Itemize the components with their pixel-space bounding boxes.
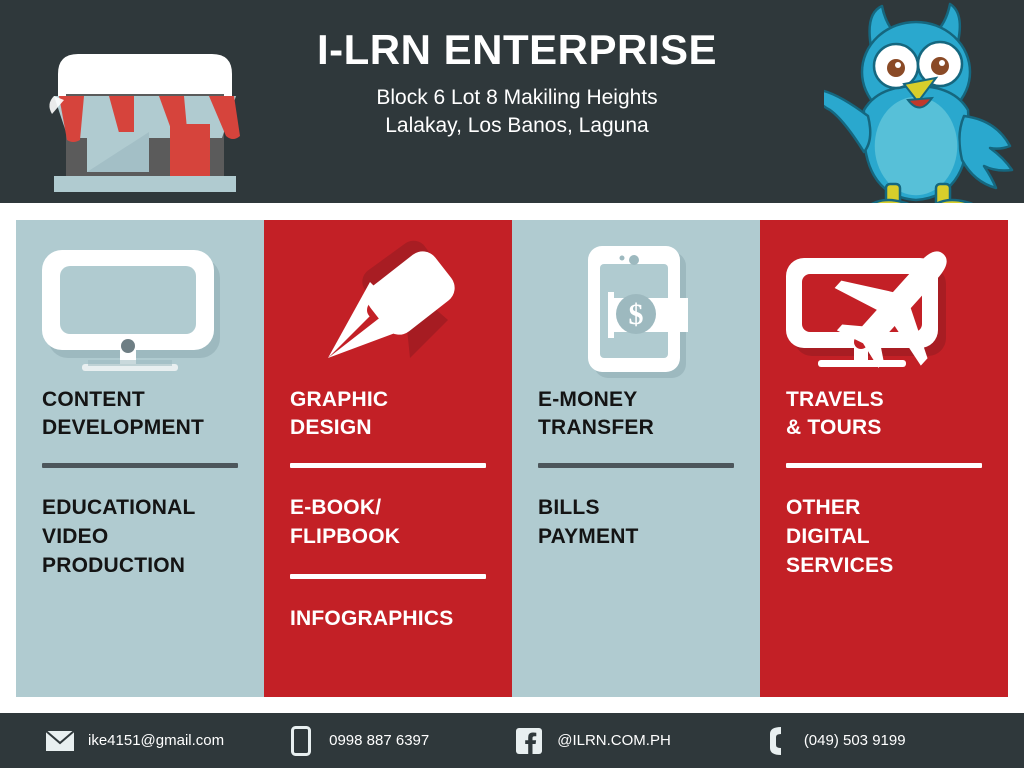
contact-facebook[interactable]: @ILRN.COM.PH	[514, 726, 671, 756]
telephone-handset-icon	[761, 726, 791, 756]
service-title: CONTENT DEVELOPMENT	[42, 386, 238, 441]
service-item-line: OTHER	[786, 496, 861, 519]
divider	[786, 463, 982, 468]
contact-email[interactable]: ike4151@gmail.com	[45, 726, 224, 756]
monitor-airplane-icon	[760, 234, 1008, 384]
service-title: GRAPHIC DESIGN	[290, 386, 486, 441]
service-item-line: INFOGRAPHICS	[290, 607, 453, 630]
service-item: OTHER DIGITAL SERVICES	[786, 494, 982, 581]
smartphone-icon	[286, 726, 316, 756]
service-title-line: TRAVELS	[786, 388, 884, 411]
panel-body: E-MONEY TRANSFER BILLS PAYMENT	[512, 386, 760, 552]
service-item: BILLS PAYMENT	[538, 494, 734, 552]
contact-landline[interactable]: (049) 503 9199	[761, 726, 906, 756]
service-panel-travels-and-tours[interactable]: TRAVELS & TOURS OTHER DIGITAL SERVICES	[760, 220, 1008, 697]
service-title-line: TRANSFER	[538, 416, 654, 439]
service-item-line: VIDEO	[42, 525, 108, 548]
header-titles: I-LRN ENTERPRISE Block 6 Lot 8 Makiling …	[262, 28, 772, 140]
storefront-icon	[40, 28, 250, 198]
panel-body: TRAVELS & TOURS OTHER DIGITAL SERVICES	[760, 386, 1008, 581]
mobile-text: 0998 887 6397	[329, 732, 429, 749]
panel-body: GRAPHIC DESIGN E-BOOK/ FLIPBOOK INFOGRAP…	[264, 386, 512, 634]
divider	[538, 463, 734, 468]
service-title-line: & TOURS	[786, 416, 882, 439]
service-item-line: BILLS	[538, 496, 600, 519]
service-item-line: DIGITAL	[786, 525, 870, 548]
divider	[290, 463, 486, 468]
landline-text: (049) 503 9199	[804, 732, 906, 749]
service-panel-content-development[interactable]: CONTENT DEVELOPMENT EDUCATIONAL VIDEO PR…	[16, 220, 264, 697]
services-panel-group: CONTENT DEVELOPMENT EDUCATIONAL VIDEO PR…	[16, 220, 1008, 697]
service-item-line: PAYMENT	[538, 525, 639, 548]
poster-canvas: I-LRN ENTERPRISE Block 6 Lot 8 Makiling …	[0, 0, 1024, 768]
service-item-line: E-BOOK/	[290, 496, 381, 519]
desktop-monitor-icon	[16, 234, 264, 384]
service-title-line: GRAPHIC	[290, 388, 388, 411]
service-item-line: FLIPBOOK	[290, 525, 400, 548]
divider	[42, 463, 238, 468]
divider	[290, 574, 486, 579]
service-item-line: PRODUCTION	[42, 554, 185, 577]
service-title-line: CONTENT	[42, 388, 145, 411]
service-title: TRAVELS & TOURS	[786, 386, 982, 441]
service-item: INFOGRAPHICS	[290, 605, 486, 634]
facebook-text: @ILRN.COM.PH	[557, 732, 671, 749]
svg-text:$: $	[629, 298, 644, 331]
service-panel-graphic-design[interactable]: GRAPHIC DESIGN E-BOOK/ FLIPBOOK INFOGRAP…	[264, 220, 512, 697]
pen-nib-icon	[264, 234, 512, 384]
mobile-money-icon: $	[512, 234, 760, 384]
service-title-line: DESIGN	[290, 416, 372, 439]
email-text: ike4151@gmail.com	[88, 732, 224, 749]
service-item-line: SERVICES	[786, 554, 893, 577]
address-line-2: Lalakay, Los Banos, Laguna	[262, 112, 772, 140]
service-item: EDUCATIONAL VIDEO PRODUCTION	[42, 494, 238, 581]
envelope-icon	[45, 726, 75, 756]
service-item: E-BOOK/ FLIPBOOK	[290, 494, 486, 552]
address-line-1: Block 6 Lot 8 Makiling Heights	[262, 84, 772, 112]
page-title: I-LRN ENTERPRISE	[262, 28, 772, 72]
service-title-line: DEVELOPMENT	[42, 416, 204, 439]
owl-mascot-icon	[824, 0, 1020, 203]
service-item-line: EDUCATIONAL	[42, 496, 195, 519]
contact-footer-bar: ike4151@gmail.com 0998 887 6397 @ILRN.CO…	[0, 713, 1024, 768]
panel-body: CONTENT DEVELOPMENT EDUCATIONAL VIDEO PR…	[16, 386, 264, 581]
service-panel-e-money-transfer[interactable]: $ E-MONEY TRANSFER BILLS PAYMENT	[512, 220, 760, 697]
header-bar: I-LRN ENTERPRISE Block 6 Lot 8 Makiling …	[0, 0, 1024, 203]
contact-mobile[interactable]: 0998 887 6397	[286, 726, 429, 756]
service-title-line: E-MONEY	[538, 388, 637, 411]
service-title: E-MONEY TRANSFER	[538, 386, 734, 441]
facebook-icon	[514, 726, 544, 756]
